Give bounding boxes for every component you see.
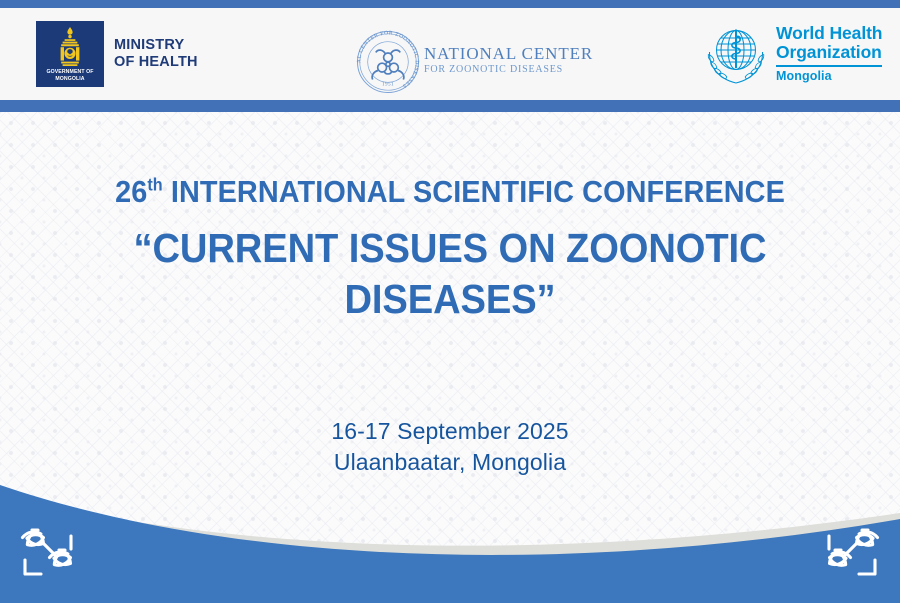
- conference-title-line-2: DISEASES”: [32, 274, 869, 325]
- event-date: 16-17 September 2025: [0, 416, 900, 447]
- conference-title: “CURRENT ISSUES ON ZOONOTIC DISEASES”: [32, 223, 869, 325]
- who-wordmark: World Health Organization Mongolia: [776, 22, 882, 83]
- national-center-zoonotic-diseases-logo: NATIONAL CENTER FOR ZOONOTIC DISEASES 19…: [352, 26, 593, 98]
- conference-title-line-1: “CURRENT ISSUES ON ZOONOTIC: [32, 223, 869, 274]
- event-details-block: 16-17 September 2025 Ulaanbaatar, Mongol…: [0, 416, 900, 478]
- emblem-caption-line-2: MONGOLIA: [36, 76, 104, 83]
- logo-header-band: GOVERNMENT OF MONGOLIA MINISTRY OF HEALT…: [0, 8, 900, 100]
- nczd-name-line-2: FOR ZOONOTIC DISEASES: [424, 63, 593, 76]
- who-name-line-1: World Health: [776, 24, 882, 43]
- who-mongolia-logo: World Health Organization Mongolia: [703, 22, 882, 88]
- edition-number: 26: [115, 174, 147, 209]
- mongolian-knot-icon: [818, 522, 886, 584]
- who-country-label: Mongolia: [776, 69, 882, 83]
- ministry-of-health-logo: GOVERNMENT OF MONGOLIA MINISTRY OF HEALT…: [36, 21, 198, 87]
- edition-rest: INTERNATIONAL SCIENTIFIC CONFERENCE: [163, 174, 785, 209]
- header-divider-rule: [0, 100, 900, 112]
- svg-text:1951: 1951: [382, 82, 394, 88]
- event-location: Ulaanbaatar, Mongolia: [0, 447, 900, 478]
- conference-edition-line: 26th INTERNATIONAL SCIENTIFIC CONFERENCE: [32, 172, 869, 212]
- top-accent-rule: [0, 0, 900, 8]
- nczd-seal-icon: NATIONAL CENTER FOR ZOONOTIC DISEASES 19…: [352, 26, 424, 98]
- ministry-name-line-1: MINISTRY: [114, 37, 198, 54]
- knot-ornament-bottom-right: [818, 522, 886, 589]
- emblem-caption-line-1: GOVERNMENT OF: [36, 69, 104, 76]
- who-name-line-2: Organization: [776, 43, 882, 62]
- knot-ornament-bottom-left: [14, 522, 82, 589]
- svg-text:NATIONAL CENTER FOR ZOONOTIC D: NATIONAL CENTER FOR ZOONOTIC DISEASES: [352, 26, 420, 89]
- ministry-name-line-2: OF HEALTH: [114, 54, 198, 71]
- edition-ordinal: th: [147, 175, 162, 195]
- nczd-name-line-1: NATIONAL CENTER: [424, 44, 593, 63]
- soyombo-icon: [50, 25, 90, 69]
- headline-block: 26th INTERNATIONAL SCIENTIFIC CONFERENCE…: [0, 172, 900, 325]
- conference-title-slide: GOVERNMENT OF MONGOLIA MINISTRY OF HEALT…: [0, 0, 900, 603]
- wave-shapes: [0, 463, 900, 603]
- bottom-wave-decoration: [0, 463, 900, 603]
- who-emblem-icon: [703, 22, 769, 88]
- who-divider: [776, 65, 882, 67]
- ministry-of-health-wordmark: MINISTRY OF HEALTH: [114, 37, 198, 71]
- nczd-wordmark: NATIONAL CENTER FOR ZOONOTIC DISEASES: [424, 44, 593, 80]
- mongolian-knot-icon: [14, 522, 82, 584]
- government-of-mongolia-emblem: GOVERNMENT OF MONGOLIA: [36, 21, 104, 87]
- wave-main-shape: [0, 485, 900, 603]
